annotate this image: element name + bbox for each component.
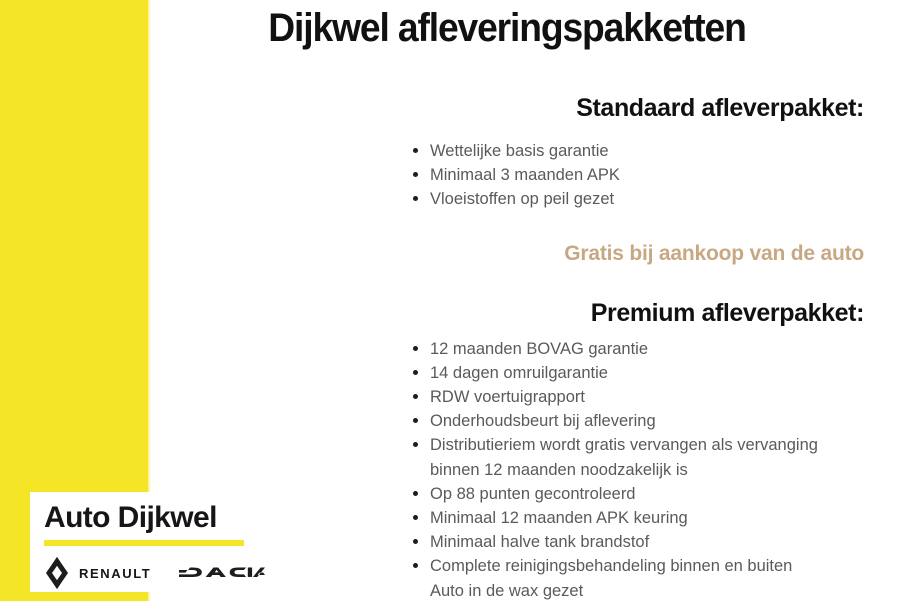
list-item: RDW voertuigrapport — [412, 385, 864, 409]
list-item: Distributieriem wordt gratis vervangen a… — [412, 433, 864, 481]
list-item: Complete reinigingsbehandeling binnen en… — [412, 554, 864, 578]
list-item: 14 dagen omruilgarantie — [412, 361, 864, 385]
standard-package-note: Gratis bij aankoop van de auto — [150, 241, 864, 267]
premium-package-heading: Premium afleverpakket: — [150, 298, 864, 328]
list-item: Wettelijke basis garantie — [412, 139, 864, 163]
page-title: Dijkwel afleveringspakketten — [175, 0, 839, 52]
list-item: Vloeistoffen op peil gezet — [412, 187, 864, 211]
list-item: Minimaal 12 maanden APK keuring — [412, 506, 864, 530]
list-item: Auto in de wax gezet — [412, 579, 864, 601]
list-item: Onderhoudsbeurt bij aflevering — [412, 409, 864, 433]
premium-package-list: 12 maanden BOVAG garantie 14 dagen omrui… — [150, 337, 864, 601]
delivery-packages-poster: Auto Dijkwel RENAULT Dijkwel afleverings… — [0, 0, 902, 601]
standard-package-list: Wettelijke basis garantie Minimaal 3 maa… — [150, 139, 864, 212]
list-item: Op 88 punten gecontroleerd — [412, 482, 864, 506]
content-column: Dijkwel afleveringspakketten Standaard a… — [150, 0, 902, 601]
list-item: Minimaal 3 maanden APK — [412, 163, 864, 187]
list-item: Minimaal halve tank brandstof — [412, 530, 864, 554]
renault-wordmark: RENAULT — [79, 566, 151, 581]
renault-diamond-icon — [44, 556, 70, 590]
list-item: 12 maanden BOVAG garantie — [412, 337, 864, 361]
standard-package-heading: Standaard afleverpakket: — [150, 93, 864, 123]
